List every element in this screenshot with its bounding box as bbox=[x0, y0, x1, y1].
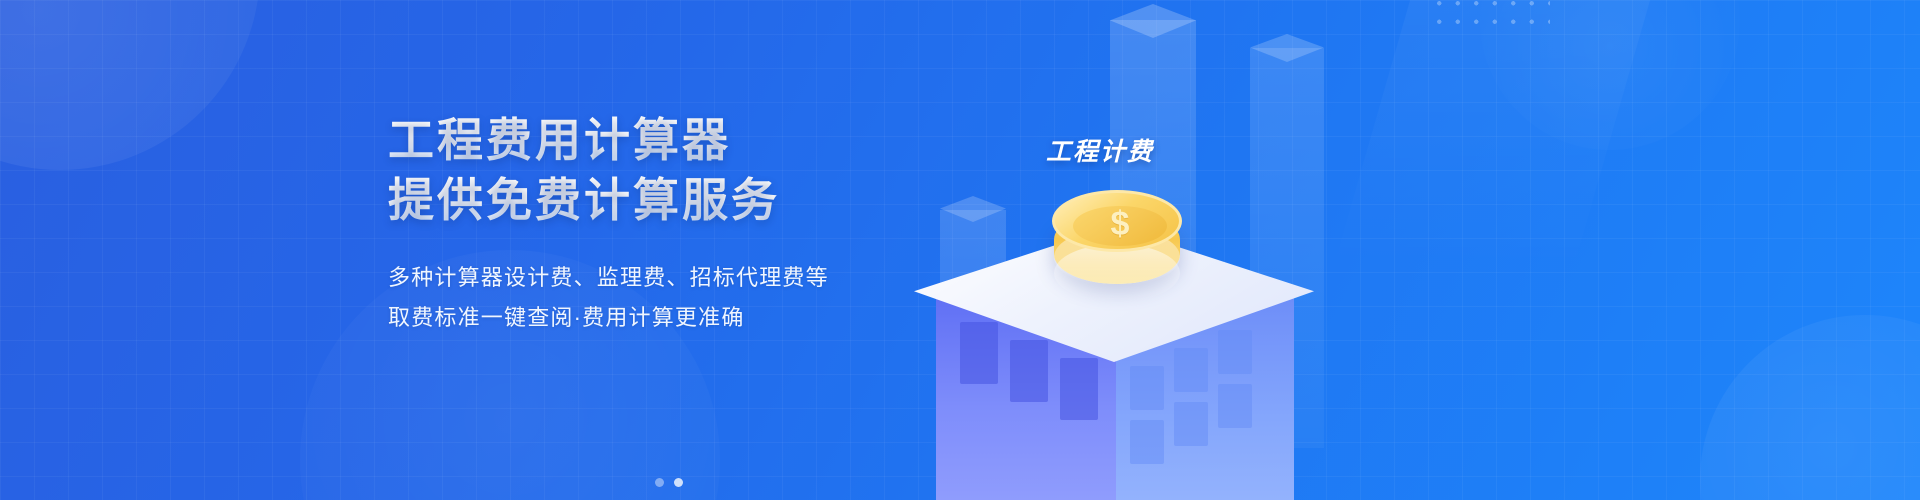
coin-top-face: $ bbox=[1052, 190, 1182, 252]
building-window bbox=[1130, 366, 1164, 410]
banner-illustration: 工程计费 $ bbox=[880, 0, 1920, 500]
subtitle-line-1: 多种计算器设计费、监理费、招标代理费等 bbox=[388, 258, 948, 298]
hero-banner: 工程费用计算器 提供免费计算服务 多种计算器设计费、监理费、招标代理费等 取费标… bbox=[0, 0, 1920, 500]
banner-copy-block: 工程费用计算器 提供免费计算服务 多种计算器设计费、监理费、招标代理费等 取费标… bbox=[388, 112, 948, 338]
subtitle-block: 多种计算器设计费、监理费、招标代理费等 取费标准一键查阅·费用计算更准确 bbox=[388, 258, 948, 338]
headline-line-2: 提供免费计算服务 bbox=[388, 172, 948, 228]
gold-coin-icon: $ bbox=[1048, 184, 1188, 310]
dollar-sign-icon: $ bbox=[1055, 193, 1185, 255]
building-window bbox=[1218, 384, 1252, 428]
illustration-label: 工程计费 bbox=[1046, 132, 1154, 168]
subtitle-line-2: 取费标准一键查阅·费用计算更准确 bbox=[388, 298, 948, 338]
carousel-dots[interactable] bbox=[655, 478, 683, 487]
building-window bbox=[1174, 348, 1208, 392]
building-window bbox=[1174, 402, 1208, 446]
building-window bbox=[1010, 340, 1048, 402]
building-window bbox=[1060, 358, 1098, 420]
headline-line-1: 工程费用计算器 bbox=[388, 112, 948, 168]
carousel-dot-2[interactable] bbox=[674, 478, 683, 487]
carousel-dot-1[interactable] bbox=[655, 478, 664, 487]
building-window bbox=[960, 322, 998, 384]
building-window bbox=[1218, 330, 1252, 374]
building-window bbox=[1130, 420, 1164, 464]
decorative-circle-top-left bbox=[0, 0, 260, 170]
